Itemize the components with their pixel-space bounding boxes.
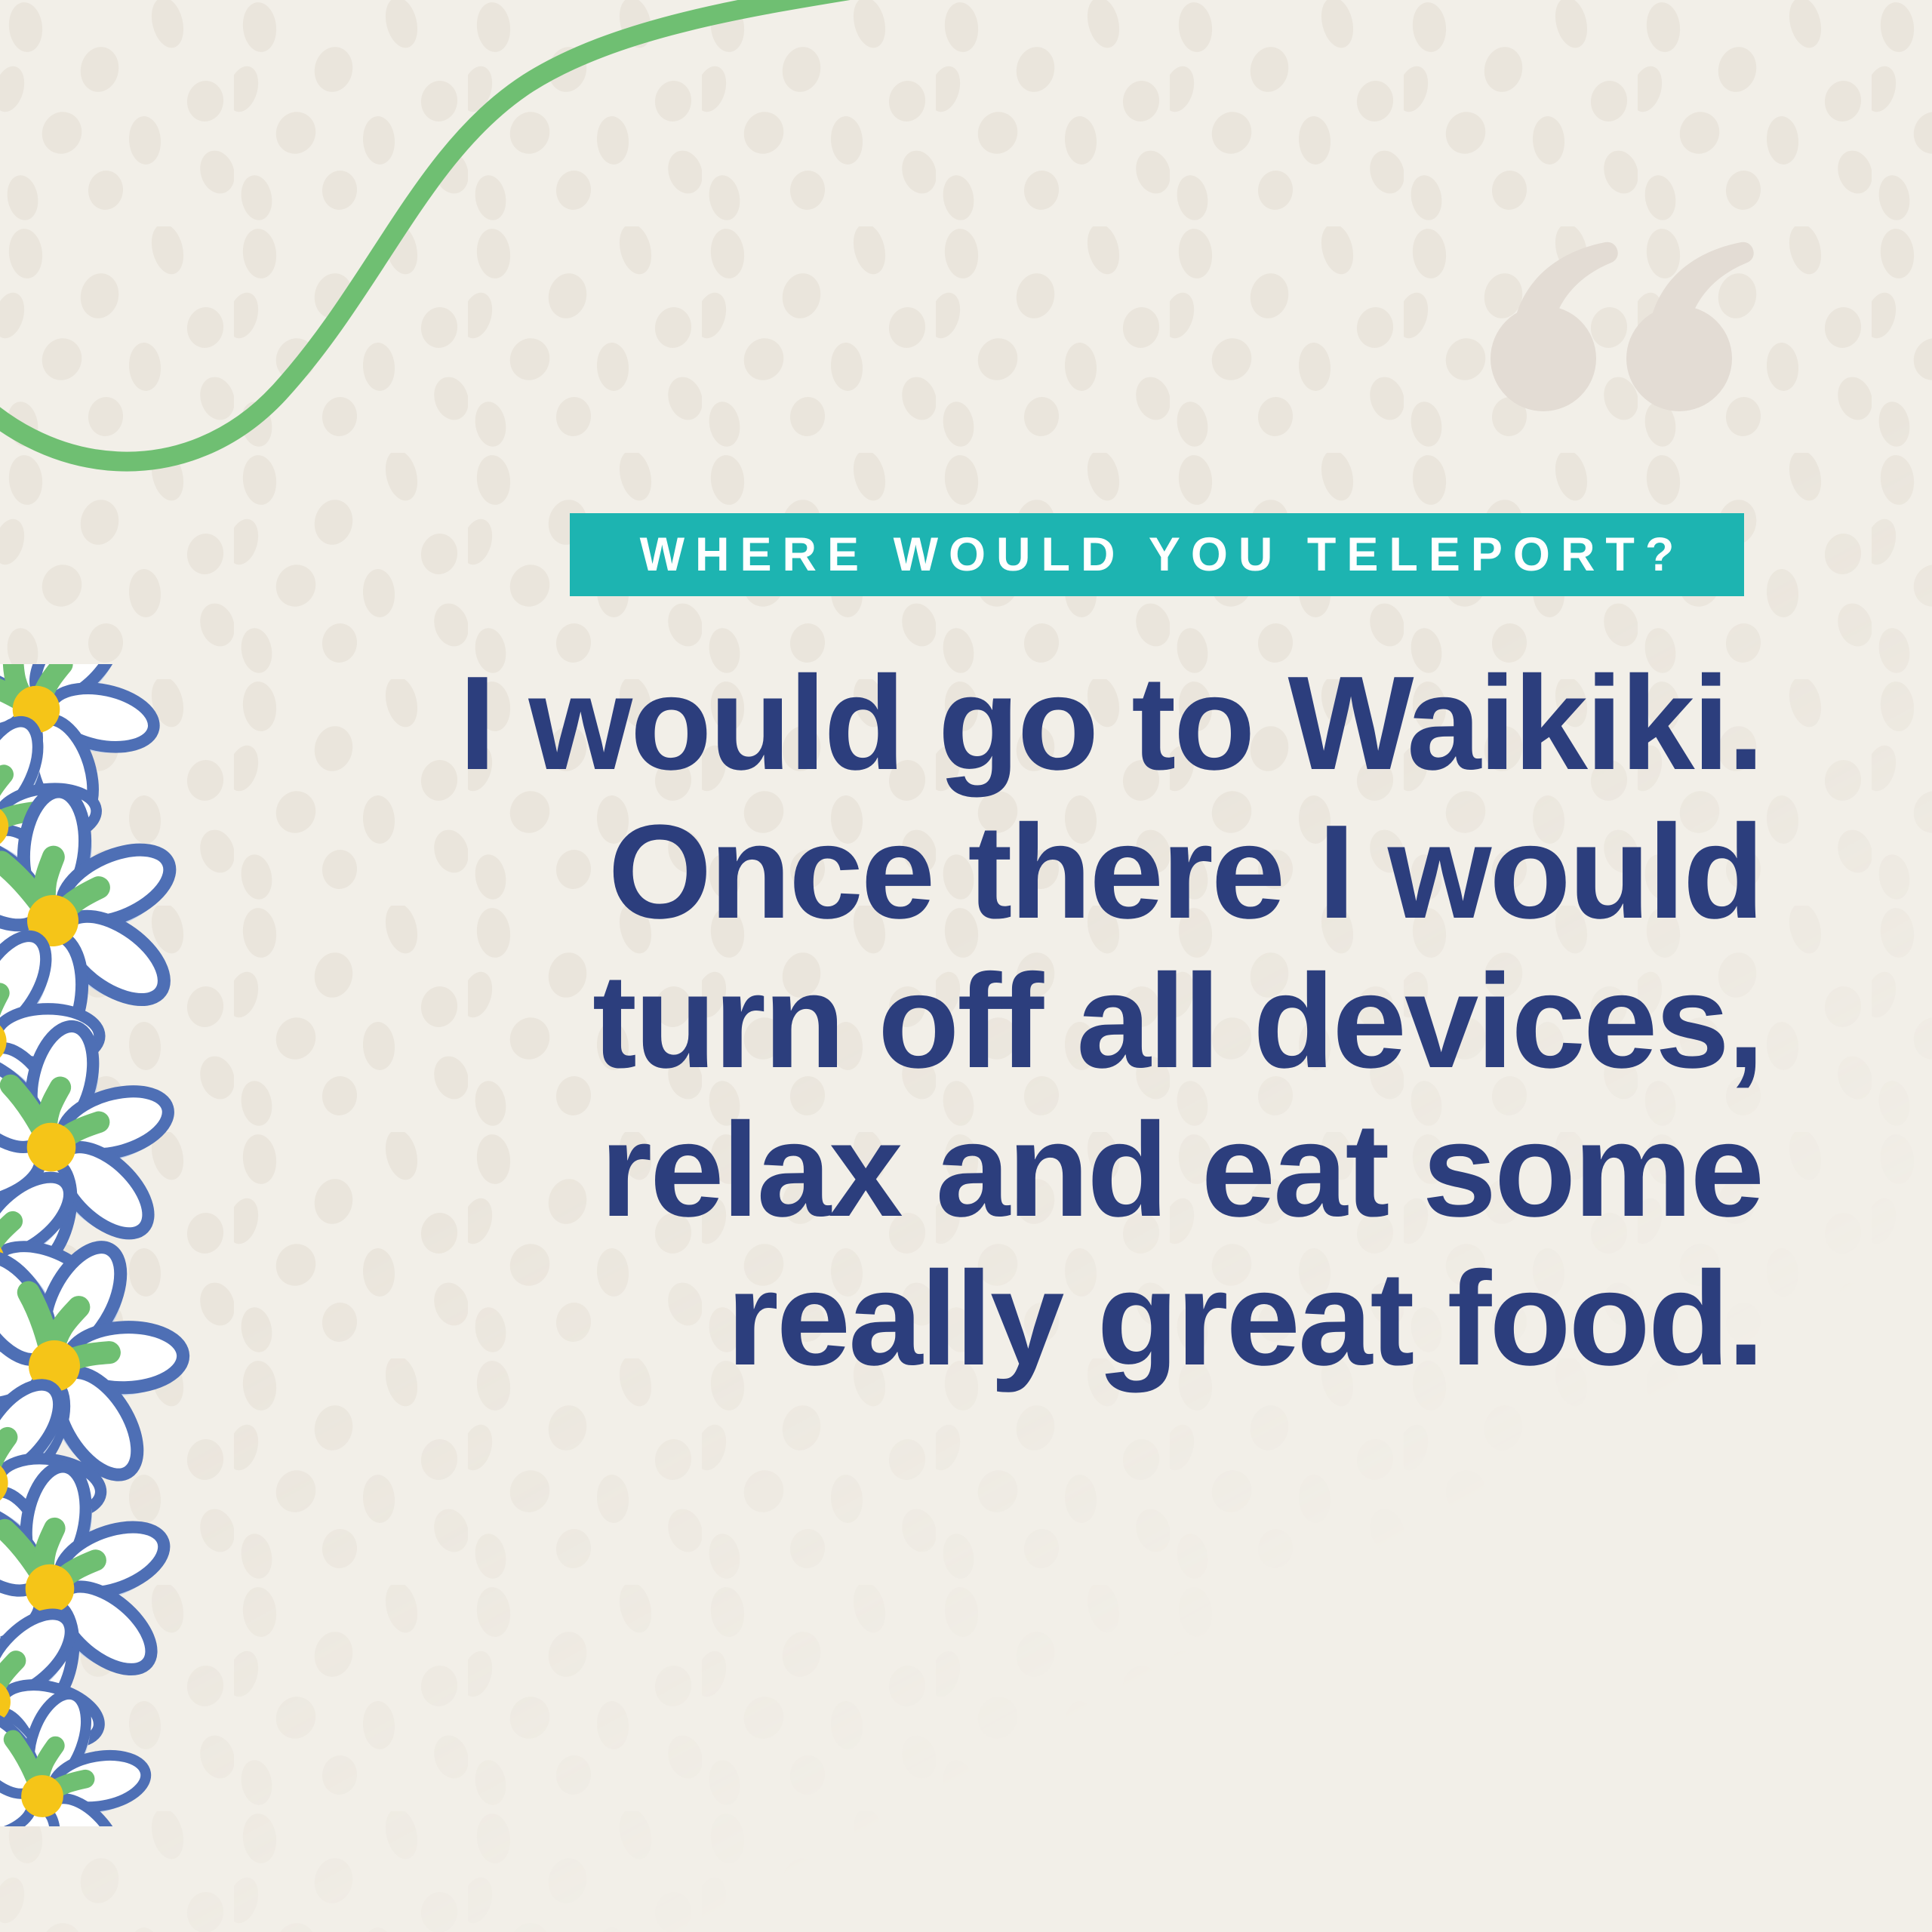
eyebrow-label: WHERE WOULD YOU TELEPORT? <box>629 531 1685 579</box>
green-wave-line <box>0 0 1932 528</box>
opening-quote-mark <box>1491 238 1770 411</box>
social-quote-card: WHERE WOULD YOU TELEPORT? I would go to … <box>0 0 1932 1932</box>
quote-text-block: I would go to Waikiki. Once there I woul… <box>136 649 1762 1394</box>
quote-line-3: turn off all devices, <box>136 947 1762 1096</box>
quote-line-5: really great food. <box>136 1244 1762 1393</box>
quote-line-2: Once there I would <box>136 798 1762 946</box>
quote-line-4: relax and eat some <box>136 1096 1762 1244</box>
eyebrow-banner: WHERE WOULD YOU TELEPORT? <box>570 513 1744 596</box>
quote-line-1: I would go to Waikiki. <box>136 649 1762 798</box>
